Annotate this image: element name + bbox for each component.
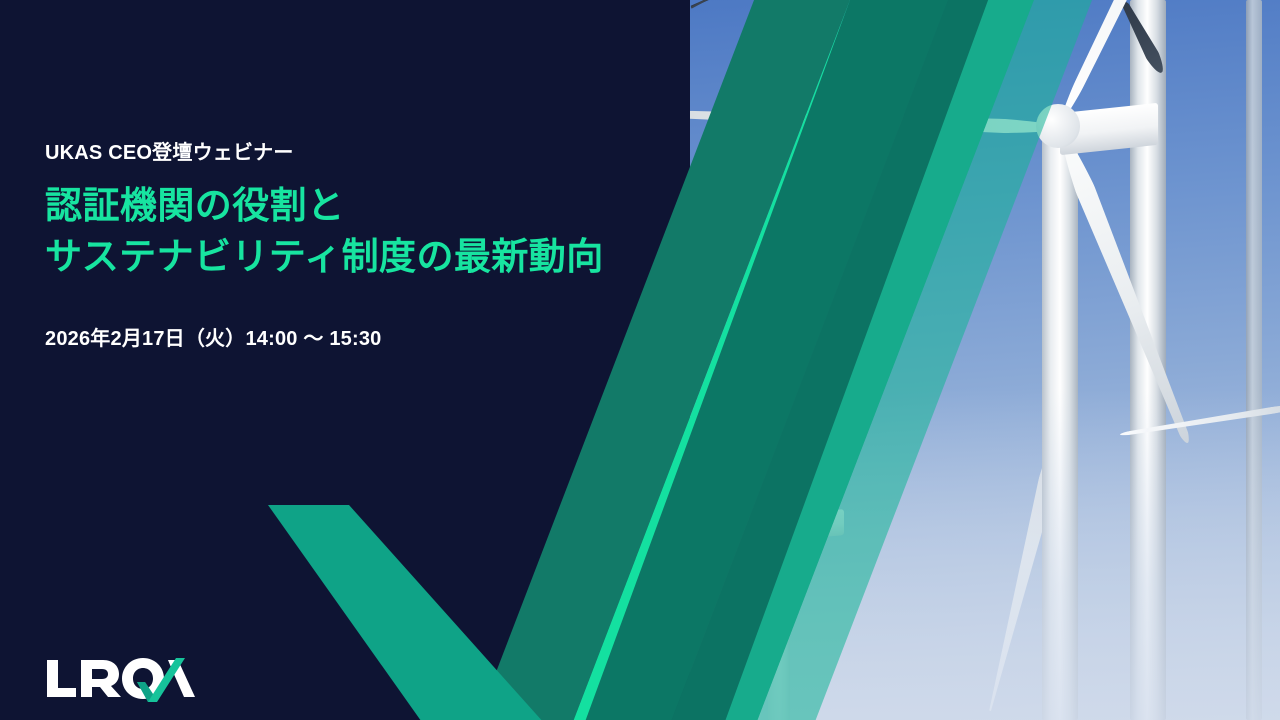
lrqa-logo: LRQA xyxy=(45,652,195,704)
banner-datetime: 2026年2月17日（火）14:00 〜 15:30 xyxy=(45,322,725,351)
banner-content: UKAS CEO登壇ウェビナー 認証機関の役割と サステナビリティ制度の最新動向… xyxy=(45,140,725,351)
banner-kicker: UKAS CEO登壇ウェビナー xyxy=(45,140,725,166)
banner-headline: 認証機関の役割と サステナビリティ制度の最新動向 xyxy=(45,180,725,282)
webinar-banner: UKAS CEO登壇ウェビナー 認証機関の役割と サステナビリティ制度の最新動向… xyxy=(0,0,1280,720)
